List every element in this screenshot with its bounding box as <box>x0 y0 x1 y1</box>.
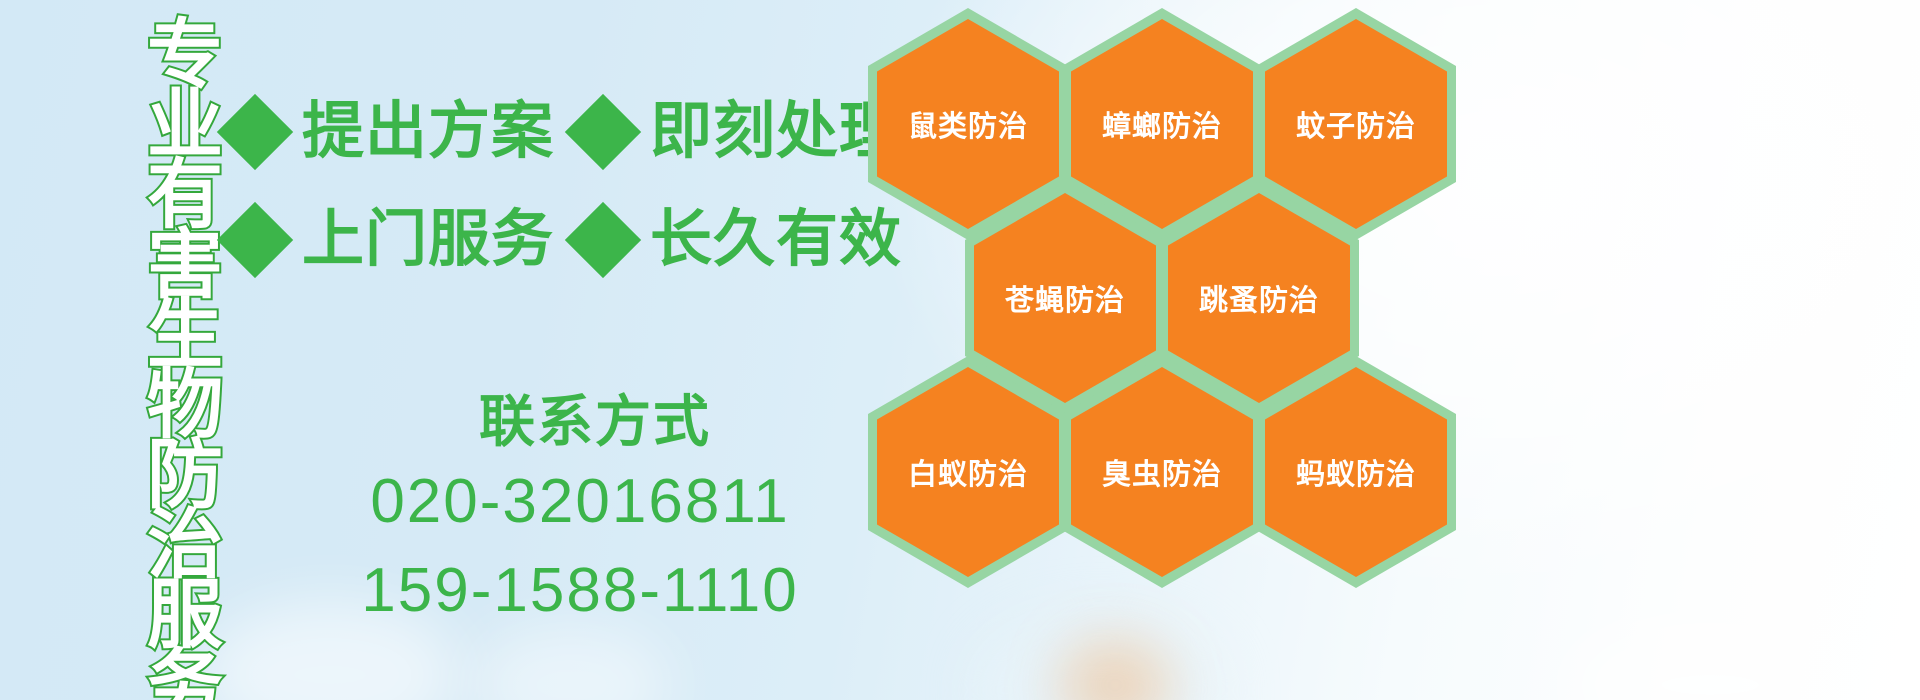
hex-label: 鼠类防治 <box>908 103 1028 145</box>
hex-label: 苍蝇防治 <box>1005 277 1125 319</box>
feature-label: 提出方案 <box>302 101 554 163</box>
promo-banner: 专业有害生物防治服务 提出方案 即刻处理 上门服务 长久有效 联系方式 0 <box>0 0 1920 700</box>
service-honeycomb: 鼠类防治 蟑螂防治 蚊子防治 苍蝇防治 跳蚤防治 白蚁防治 <box>860 0 1480 700</box>
hex-label: 白蚁防治 <box>908 451 1028 493</box>
hex-label: 蚊子防治 <box>1296 103 1416 145</box>
background-bokeh-blob <box>1560 610 1860 700</box>
hex-cell-bedbug[interactable]: 臭虫防治 <box>1062 356 1262 588</box>
feature-item: 长久有效 <box>576 209 902 271</box>
phone-number-primary[interactable]: 020-32016811 <box>250 462 910 543</box>
feature-item: 上门服务 <box>228 209 554 271</box>
diamond-icon <box>565 202 641 278</box>
phone-number-secondary[interactable]: 159-1588-1110 <box>250 551 910 632</box>
feature-row: 提出方案 即刻处理 <box>228 78 888 186</box>
hex-label: 跳蚤防治 <box>1199 277 1319 319</box>
vertical-headline: 专业有害生物防治服务 <box>108 14 216 686</box>
hex-cell-termite[interactable]: 白蚁防治 <box>868 356 1068 588</box>
feature-item: 提出方案 <box>228 101 554 163</box>
diamond-icon <box>217 94 293 170</box>
background-bokeh-blob <box>470 625 670 700</box>
feature-item: 即刻处理 <box>576 101 902 163</box>
hex-cell-ant[interactable]: 蚂蚁防治 <box>1256 356 1456 588</box>
hex-label: 臭虫防治 <box>1102 451 1222 493</box>
hex-label: 蚂蚁防治 <box>1296 451 1416 493</box>
contact-block: 联系方式 020-32016811 159-1588-1110 <box>250 390 910 632</box>
hex-label: 蟑螂防治 <box>1102 103 1222 145</box>
feature-list: 提出方案 即刻处理 上门服务 长久有效 <box>228 78 888 294</box>
diamond-icon <box>565 94 641 170</box>
diamond-icon <box>217 202 293 278</box>
feature-label: 上门服务 <box>302 209 554 271</box>
feature-row: 上门服务 长久有效 <box>228 186 888 294</box>
contact-heading: 联系方式 <box>280 390 910 454</box>
